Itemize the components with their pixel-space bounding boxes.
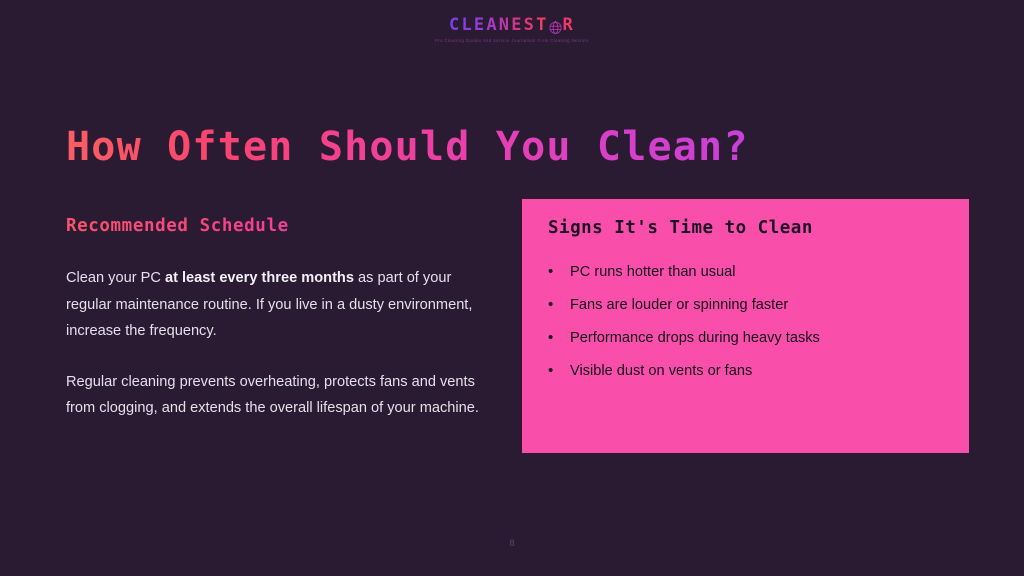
logo-text-before-icon: CLEANEST <box>449 15 548 35</box>
signs-card: Signs It's Time to Clean • PC runs hotte… <box>522 199 969 453</box>
brand-logo[interactable]: CLEANEST R Pro Cleaning Guides And Servi… <box>0 15 1024 43</box>
list-item: • Performance drops during heavy tasks <box>548 328 943 348</box>
list-item-label: Fans are louder or spinning faster <box>570 295 788 315</box>
schedule-heading: Recommended Schedule <box>66 216 498 236</box>
left-column: Recommended Schedule Clean your PC at le… <box>66 216 498 422</box>
page-number: 8 <box>0 538 1024 549</box>
schedule-paragraph-1: Clean your PC at least every three month… <box>66 265 498 345</box>
list-item: • Fans are louder or spinning faster <box>548 295 943 315</box>
page-title: How Often Should You Clean? <box>66 124 749 170</box>
signs-list: • PC runs hotter than usual • Fans are l… <box>548 262 943 381</box>
paragraph-1-part-1: Clean your PC <box>66 270 165 286</box>
bullet-icon: • <box>548 295 570 315</box>
bullet-icon: • <box>548 328 570 348</box>
schedule-paragraph-2: Regular cleaning prevents overheating, p… <box>66 369 498 422</box>
logo-tagline: Pro Cleaning Guides And Service Journali… <box>435 38 589 43</box>
signs-card-title: Signs It's Time to Clean <box>548 218 943 238</box>
paragraph-1-bold-phrase: at least every three months <box>165 270 354 286</box>
globe-icon <box>549 19 562 32</box>
logo-text-after-icon: R <box>563 15 575 35</box>
list-item-label: PC runs hotter than usual <box>570 262 736 282</box>
list-item-label: Performance drops during heavy tasks <box>570 328 820 348</box>
list-item: • PC runs hotter than usual <box>548 262 943 282</box>
list-item-label: Visible dust on vents or fans <box>570 361 752 381</box>
logo-wordmark: CLEANEST R <box>449 15 575 35</box>
list-item: • Visible dust on vents or fans <box>548 361 943 381</box>
bullet-icon: • <box>548 361 570 381</box>
bullet-icon: • <box>548 262 570 282</box>
